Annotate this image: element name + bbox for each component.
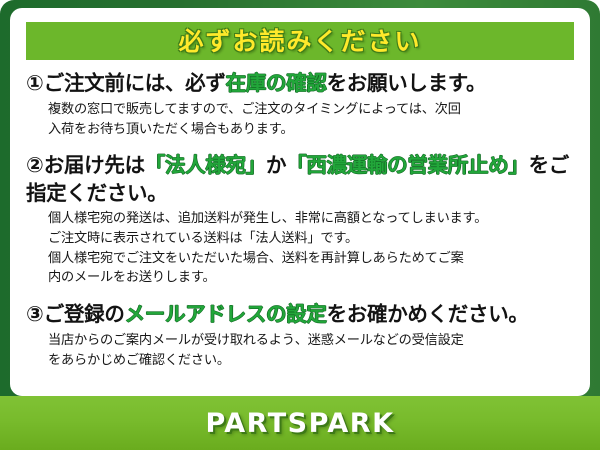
notice-item-3: ③ご登録のメールアドレスの設定をお確かめください。 当店からのご案内メールが受け… (26, 301, 582, 370)
item-3-body-line-1: 当店からのご案内メールが受け取れるよう、迷惑メールなどの受信設定 (48, 331, 582, 351)
item-3-head-part-3: をお確かめください。 (327, 302, 529, 326)
item-1-head-part-3: をお願いします。 (327, 71, 487, 95)
item-2-body-line-1: 個人様宅宛の発送は、追加送料が発生し、非常に高額となってしまいます。 (48, 209, 582, 229)
brand-logo-text: PARTSPARK (205, 410, 394, 437)
notice-frame: 必ずお読みください ①ご注文前には、必ず在庫の確認をお願いします。 複数の窓口で… (0, 0, 600, 450)
item-3-body-line-2: をあらかじめご確認ください。 (48, 351, 582, 371)
notice-item-1: ①ご注文前には、必ず在庫の確認をお願いします。 複数の窓口で販売してますので、ご… (26, 70, 582, 139)
notice-item-1-heading: ①ご注文前には、必ず在庫の確認をお願いします。 (26, 70, 582, 98)
banner-title: 必ずお読みください (178, 29, 421, 54)
item-2-body-line-3: 個人様宅宛でご注文をいただいた場合、送料を再計算しあらためてご案 (48, 249, 582, 269)
item-2-head-highlight-2: 「西濃運輸の営業所止め」 (286, 153, 528, 177)
item-2-head-part-3: か (266, 153, 286, 177)
notice-item-3-body: 当店からのご案内メールが受け取れるよう、迷惑メールなどの受信設定 をあらかじめご… (48, 331, 582, 371)
notice-item-1-body: 複数の窓口で販売してますので、ご注文のタイミングによっては、次回 入荷をお待ち頂… (48, 100, 582, 140)
item-3-head-highlight: メールアドレスの設定 (125, 302, 327, 326)
notice-card: 必ずお読みください ①ご注文前には、必ず在庫の確認をお願いします。 複数の窓口で… (10, 8, 590, 396)
notice-item-2: ②お届け先は「法人様宛」か「西濃運輸の営業所止め」をご指定ください。 個人様宅宛… (26, 152, 582, 288)
notice-item-2-body: 個人様宅宛の発送は、追加送料が発生し、非常に高額となってしまいます。 ご注文時に… (48, 209, 582, 288)
item-2-body-line-4: 内のメールをお送りします。 (48, 268, 582, 288)
brand-footer: PARTSPARK (0, 396, 600, 450)
item-1-body-line-1: 複数の窓口で販売してますので、ご注文のタイミングによっては、次回 (48, 100, 582, 120)
item-1-number: ① (26, 71, 44, 95)
item-1-head-highlight: 在庫の確認 (226, 71, 327, 95)
item-1-body-line-2: 入荷をお待ち頂いただく場合もあります。 (48, 120, 582, 140)
item-2-body-line-2: ご注文時に表示されている送料は「法人送料」です。 (48, 229, 582, 249)
item-2-head-highlight-1: 「法人様宛」 (145, 153, 266, 177)
item-3-head-part-1: ご登録の (44, 302, 125, 326)
item-2-head-part-1: お届け先は (44, 153, 145, 177)
notice-item-2-heading: ②お届け先は「法人様宛」か「西濃運輸の営業所止め」をご指定ください。 (26, 152, 582, 207)
item-3-number: ③ (26, 302, 44, 326)
title-banner: 必ずお読みください (26, 22, 574, 60)
item-2-number: ② (26, 153, 44, 177)
notice-item-3-heading: ③ご登録のメールアドレスの設定をお確かめください。 (26, 301, 582, 329)
notice-items-list: ①ご注文前には、必ず在庫の確認をお願いします。 複数の窓口で販売してますので、ご… (26, 70, 582, 377)
item-1-head-part-1: ご注文前には、必ず (44, 71, 226, 95)
